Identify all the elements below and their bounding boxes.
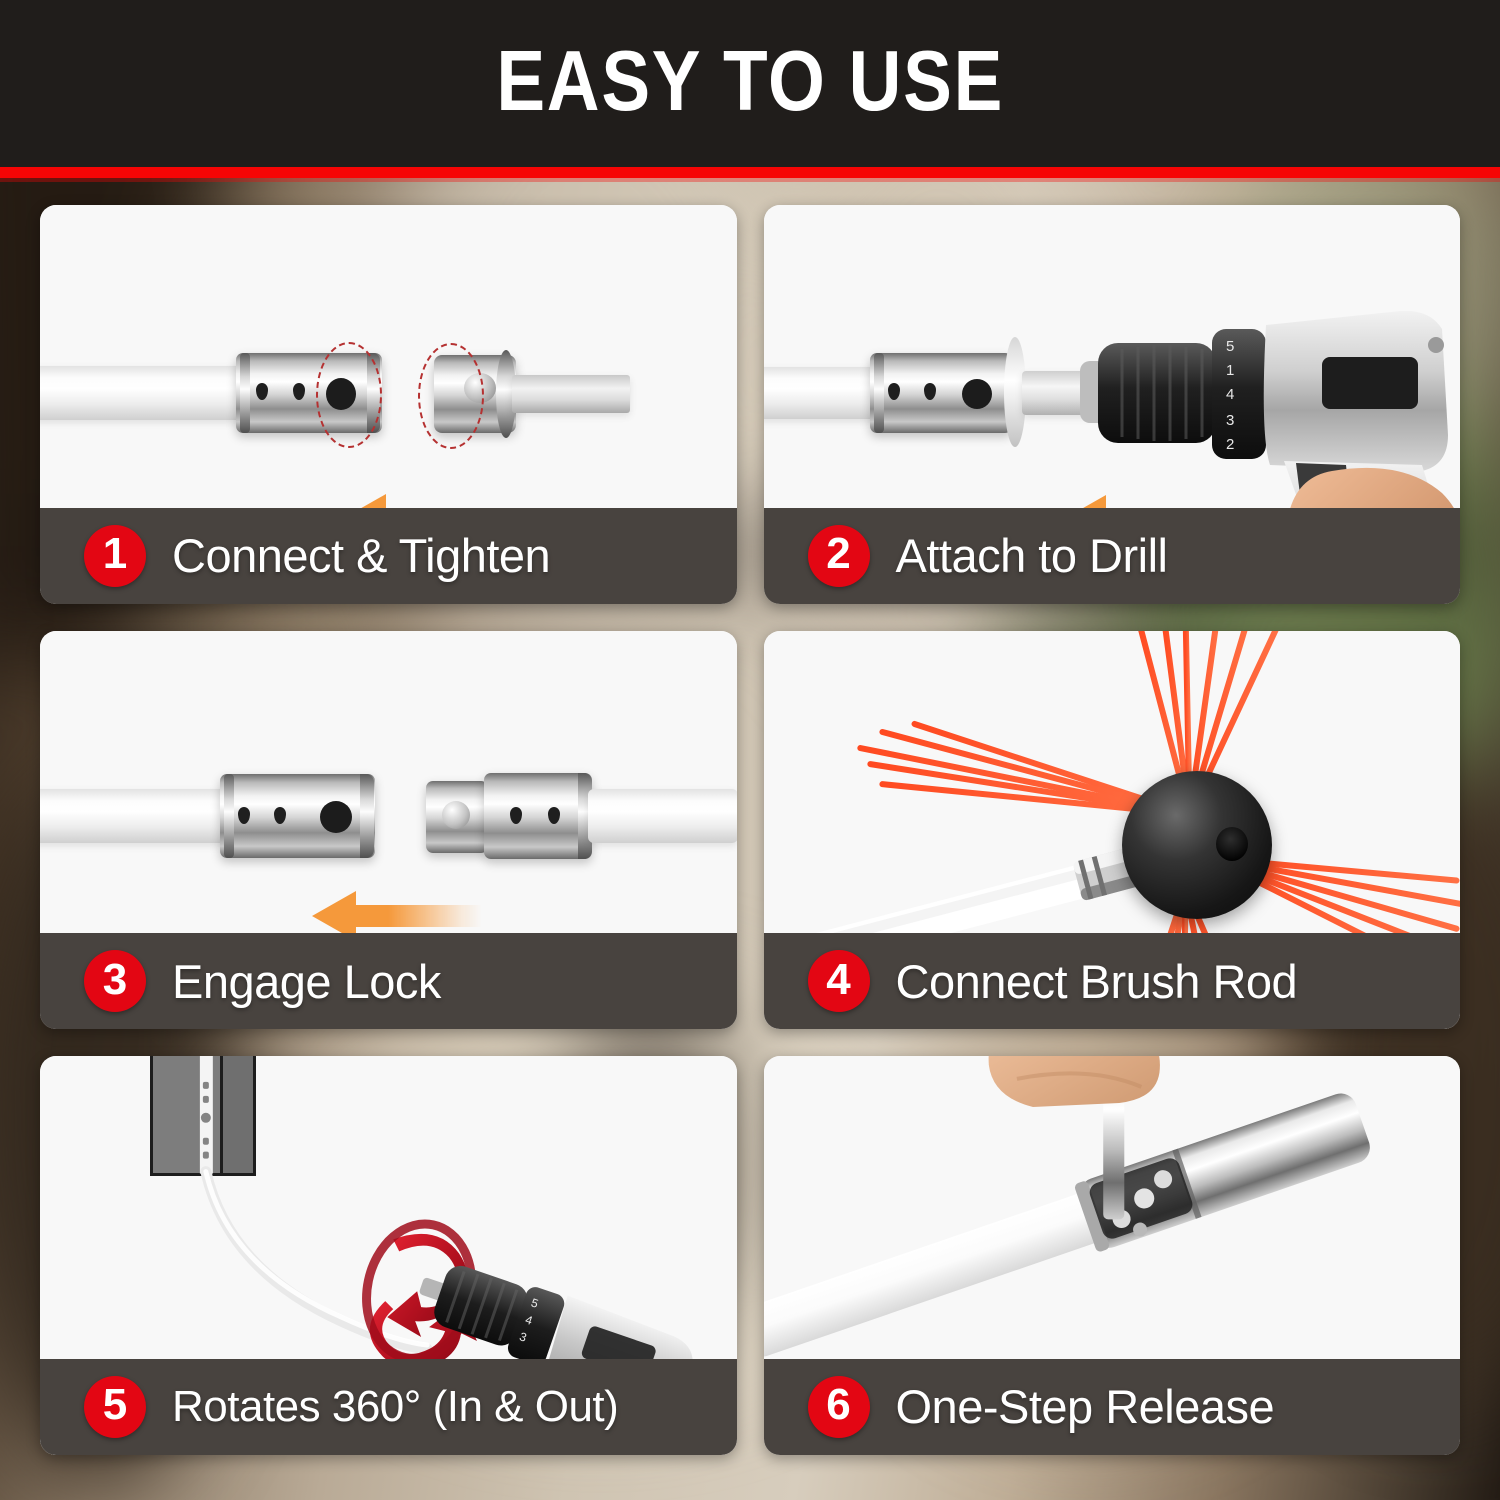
- step-number-badge: 6: [808, 1376, 870, 1438]
- step-number-badge: 1: [84, 525, 146, 587]
- step-number-badge: 4: [808, 950, 870, 1012]
- chrome-hole-icon: [962, 379, 992, 409]
- chrome-port-icon: [888, 383, 900, 400]
- step-label: Connect Brush Rod: [896, 954, 1298, 1009]
- step-2-caption: 2 Attach to Drill: [764, 508, 1461, 604]
- step-3-illustration: [40, 631, 737, 934]
- chrome-port-icon: [274, 807, 286, 824]
- flex-rod-icon: [206, 1172, 427, 1349]
- step-card-4[interactable]: 4 Connect Brush Rod: [764, 631, 1461, 1030]
- step-6-caption: 6 One-Step Release: [764, 1359, 1461, 1455]
- left-arrow-icon: [1062, 493, 1232, 508]
- header-red-rule-glow: [0, 178, 1500, 182]
- chrome-port-icon: [924, 383, 936, 400]
- step-number-badge: 2: [808, 525, 870, 587]
- svg-text:5: 5: [1226, 338, 1234, 355]
- hex-shank-icon: [512, 375, 630, 413]
- left-arrow-icon: [342, 492, 512, 508]
- header-banner: EASY TO USE: [0, 0, 1500, 167]
- rod-icon: [40, 366, 260, 420]
- rod-icon: [764, 367, 884, 419]
- chrome-connector-icon: [484, 773, 592, 859]
- step-card-1[interactable]: 1 Connect & Tighten: [40, 205, 737, 604]
- chrome-hole-icon: [320, 801, 352, 833]
- chrome-ring-icon: [360, 774, 374, 858]
- socket-screw-icon: [442, 801, 470, 829]
- svg-text:2: 2: [1226, 436, 1234, 453]
- step-4-caption: 4 Connect Brush Rod: [764, 933, 1461, 1029]
- step-card-6[interactable]: 6 One-Step Release: [764, 1056, 1461, 1455]
- step-1-illustration: [40, 205, 737, 508]
- svg-text:1: 1: [1226, 362, 1234, 379]
- svg-text:3: 3: [1226, 412, 1234, 429]
- step-label: Engage Lock: [172, 954, 441, 1009]
- rod-icon: [40, 789, 230, 843]
- infographic-page: EASY TO USE: [0, 0, 1500, 1500]
- step-card-3[interactable]: 3 Engage Lock: [40, 631, 737, 1030]
- header-red-rule: [0, 167, 1500, 178]
- step-label: Attach to Drill: [896, 528, 1168, 583]
- svg-text:4: 4: [1226, 386, 1234, 403]
- chrome-ring-icon: [240, 353, 250, 433]
- chrome-ring-icon: [874, 353, 884, 433]
- dashed-highlight-icon: [316, 342, 382, 448]
- step-1-caption: 1 Connect & Tighten: [40, 508, 737, 604]
- step-5-caption: 5 Rotates 360° (In & Out): [40, 1359, 737, 1455]
- step-label: Connect & Tighten: [172, 528, 550, 583]
- hub-hole-icon: [1216, 827, 1248, 861]
- chrome-port-icon: [238, 807, 250, 824]
- rod-icon: [588, 789, 737, 843]
- step-card-2[interactable]: 51 432: [764, 205, 1461, 604]
- step-number-badge: 5: [84, 1376, 146, 1438]
- chrome-port-icon: [510, 807, 522, 824]
- brush-hub-icon: [1122, 771, 1272, 919]
- steps-grid: 1 Connect & Tighten: [40, 205, 1460, 1455]
- chrome-port-icon: [548, 807, 560, 824]
- step-card-5[interactable]: 543 5 Rotates 360° (In & Out): [40, 1056, 737, 1455]
- hand-icon: [988, 1056, 1159, 1107]
- drill-icon: 51 432: [1070, 265, 1460, 508]
- step-2-illustration: 51 432: [764, 205, 1461, 508]
- step-label: Rotates 360° (In & Out): [172, 1382, 618, 1432]
- left-arrow-icon: [312, 889, 482, 934]
- chrome-ring-icon: [224, 774, 234, 858]
- step-6-illustration: [764, 1056, 1461, 1359]
- step-number-badge: 3: [84, 950, 146, 1012]
- step-label: One-Step Release: [896, 1379, 1275, 1434]
- dashed-highlight-icon: [418, 343, 484, 449]
- page-title: EASY TO USE: [496, 39, 1004, 124]
- step-3-caption: 3 Engage Lock: [40, 933, 737, 1029]
